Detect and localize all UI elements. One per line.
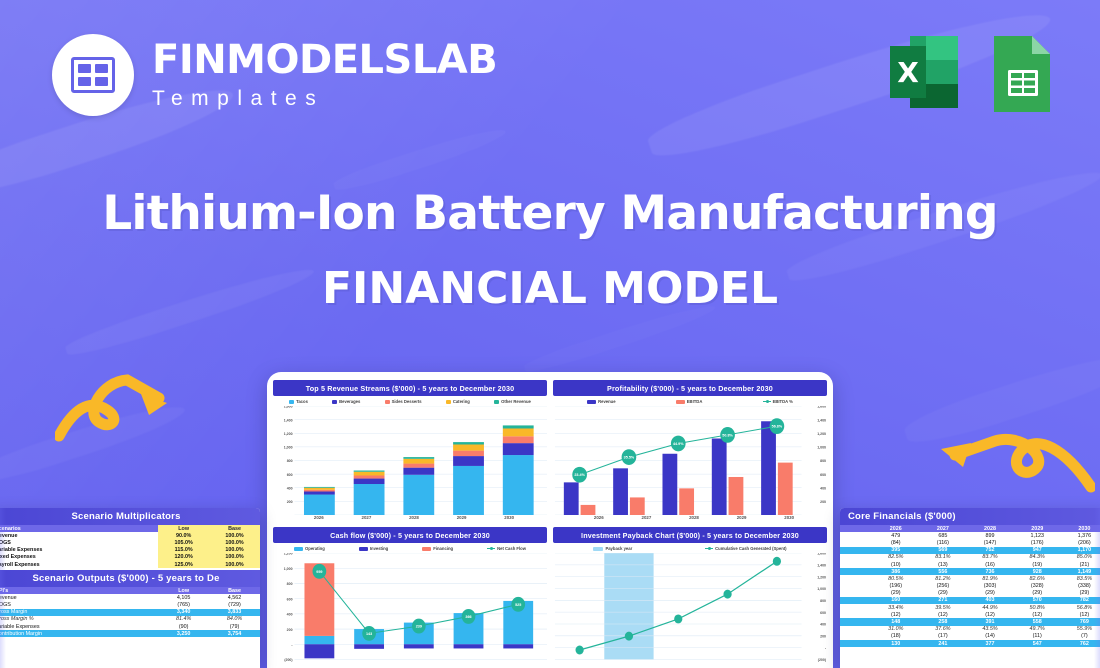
table-row: (84)(116)(147)(176)(206) [840,539,1100,546]
table-cell: 569 [919,547,966,554]
table-cell: (13) [919,561,966,568]
table-cell: 271 [919,597,966,604]
table-cell: 83.5% [1061,575,1100,582]
brand-logo[interactable]: FINMODELSLAB Templates [52,34,497,116]
table-cell: (29) [872,590,919,597]
table-cell: 81.2% [919,575,966,582]
table-cell: 782 [1061,597,1100,604]
legend-item: EBITDA [676,399,703,404]
table-row: 33.4%39.5%44.9%50.8%56.8% [840,604,1100,611]
table-cell: 1,376 [1061,532,1100,539]
svg-text:600: 600 [820,473,826,477]
chart-legend: Tacos Beverages Sides Desserts Catering … [273,396,547,406]
legend-item: Other Revenue [494,399,531,404]
table-cell: 85.0% [1061,554,1100,561]
legend-item: Payback year [593,546,632,551]
table-row: Variable Expenses115.0%100.0% [0,547,260,554]
table-row: 3865567369281,149 [840,568,1100,575]
table-cell: 1,149 [1061,568,1100,575]
cell-base: (79) [209,623,260,630]
table-cell: (303) [966,583,1013,590]
table-row: Variable Expenses(90)(79) [0,623,260,630]
row-label: COGS [0,602,158,609]
cell-low: (765) [158,602,209,609]
table-row: COGS105.0%100.0% [0,539,260,546]
table-cell: (19) [1014,561,1061,568]
row-label: Revenue [0,532,158,539]
table-row: Gross Margin %81.4%84.0% [0,616,260,623]
table-cell: 258 [919,618,966,625]
chart-x-axis: 20262027 20282029 2030 [553,515,827,521]
legend-item: Cumulative Cash Generated (Spent) [705,546,786,551]
legend-item: Operating [294,546,325,551]
table-cell: 33.4% [872,604,919,611]
table-row: 4796858991,1231,376 [840,532,1100,539]
table-row: (12)(12)(12)(12)(12) [840,611,1100,618]
table-cell: 1,123 [1014,532,1061,539]
table-cell: (12) [919,611,966,618]
scenario-multiplicators-table: Scenarios Low Base Revenue90.0%100.0%COG… [0,525,260,568]
table-cell: (17) [919,633,966,640]
table-cell: 570 [1014,597,1061,604]
table-row: Payroll Expenses125.0%100.0% [0,561,260,568]
table-row: (29)(29)(29)(29)(29) [840,590,1100,597]
row-label: Gross Margin [0,609,158,616]
table-cell: 403 [966,597,1013,604]
page-subtitle: FINANCIAL MODEL [0,263,1100,314]
legend-item: Revenue [587,399,615,404]
cell-low: 115.0% [158,547,209,554]
row-label: Variable Expenses [0,547,158,554]
table-header-row: KPI's Low Base [0,587,260,594]
chart-legend: Operating Investing Financing Net Cash F… [273,543,547,553]
legend-item: Tacos [289,399,308,404]
chart-title: Cash flow ($'000) - 5 years to December … [273,527,547,543]
column-header: 2030 [1061,525,1100,532]
core-financials-table: 2026 2027 2028 2029 2030 4796858991,1231… [840,525,1100,647]
row-label: Payroll Expenses [0,561,158,568]
cell-base: 4,562 [209,594,260,601]
brand-name: FINMODELSLAB [152,40,497,80]
row-label: Variable Expenses [0,623,158,630]
column-header: 2028 [966,525,1013,532]
table-row: Revenue4,1054,562 [0,594,260,601]
svg-text:1,000: 1,000 [284,567,293,571]
svg-text:200: 200 [820,634,826,638]
table-cell: (18) [872,633,919,640]
table-cell: (12) [966,611,1013,618]
svg-text:56.8%: 56.8% [772,425,783,429]
cell-low: 90.0% [158,532,209,539]
table-row: (196)(256)(303)(328)(338) [840,583,1100,590]
table-cell: (147) [966,539,1013,546]
svg-text:600: 600 [820,611,826,615]
table-row: 31.0%37.6%43.5%49.7%55.9% [840,626,1100,633]
table-row: 130241377547762 [840,640,1100,647]
svg-text:-: - [825,646,827,650]
cell-base: 100.0% [209,539,260,546]
table-row: 3955697529471,170 [840,547,1100,554]
table-cell: 395 [872,547,919,554]
table-cell: 377 [966,640,1013,647]
table-cell: 31.0% [872,626,919,633]
column-header: 2029 [1014,525,1061,532]
table-cell: 391 [966,618,1013,625]
table-cell: (21) [1061,561,1100,568]
cell-base: 100.0% [209,561,260,568]
svg-text:800: 800 [820,459,826,463]
legend-item: EBITDA % [763,399,793,404]
cell-low: 3,340 [158,609,209,616]
cell-low: 81.4% [158,616,209,623]
google-sheets-icon [982,32,1058,116]
table-row: Gross Margin3,3403,833 [0,609,260,616]
table-row: Contribution Margin3,2503,754 [0,630,260,637]
svg-text:1,200: 1,200 [284,553,293,556]
table-cell: 762 [1061,640,1100,647]
chart-x-axis: 20262027 20282029 2030 [273,515,547,521]
cell-base: 100.0% [209,547,260,554]
row-label: Revenue [0,594,158,601]
table-cell: (14) [966,633,1013,640]
cell-base: (729) [209,602,260,609]
column-header: 2027 [919,525,966,532]
svg-text:1,600: 1,600 [284,406,293,409]
table-row: 160271403570782 [840,597,1100,604]
svg-text:-: - [291,643,293,647]
table-cell: 1,170 [1061,547,1100,554]
svg-text:1,000: 1,000 [817,445,826,449]
table-cell: (328) [1014,583,1061,590]
scenario-multiplicators-title: Scenario Multiplicators [0,508,260,525]
cell-low: 125.0% [158,561,209,568]
table-row: 148258391558769 [840,618,1100,625]
row-label: Contribution Margin [0,630,158,637]
table-row: (18)(17)(14)(11)(7) [840,633,1100,640]
page-title: Lithium-Ion Battery Manufacturing [0,186,1100,241]
table-cell: (29) [919,590,966,597]
legend-item: Financing [422,546,453,551]
table-cell: 556 [919,568,966,575]
legend-item: Beverages [332,399,360,404]
chart-panel-cash-flow[interactable]: Cash flow ($'000) - 5 years to December … [273,527,547,668]
table-cell: 56.8% [1061,604,1100,611]
table-row: (10)(13)(16)(19)(21) [840,561,1100,568]
table-cell: (10) [872,561,919,568]
legend-item: Investing [359,546,388,551]
table-cell: (176) [1014,539,1061,546]
table-header-row: Scenarios Low Base [0,525,260,532]
chart-title: Investment Payback Chart ($'000) - 5 yea… [553,527,827,543]
table-row: Fixed Expenses120.0%100.0% [0,554,260,561]
header: FINMODELSLAB Templates X [0,0,1100,150]
table-cell: 558 [1014,618,1061,625]
cell-base: 100.0% [209,532,260,539]
cell-low: 4,105 [158,594,209,601]
table-cell: 83.1% [919,554,966,561]
app-icons: X [886,32,1058,116]
table-cell: (12) [1014,611,1061,618]
svg-text:800: 800 [287,582,293,586]
table-cell: 80.5% [872,575,919,582]
svg-text:600: 600 [287,597,293,601]
table-cell: (84) [872,539,919,546]
table-cell: 44.9% [966,604,1013,611]
table-cell: (12) [1061,611,1100,618]
curved-arrow-left-icon [925,425,1095,510]
table-cell: 84.3% [1014,554,1061,561]
table-cell: 148 [872,618,919,625]
chart-plot-area: 1,6001,4001,2001,000800600400200-(200) [553,553,827,668]
column-header: Base [209,525,260,532]
svg-text:50.8%: 50.8% [722,433,733,437]
cell-base: 3,833 [209,609,260,616]
table-cell: (256) [919,583,966,590]
table-cell: (116) [919,539,966,546]
table-cell: 37.6% [919,626,966,633]
curved-arrow-right-icon [55,358,180,448]
row-label: Fixed Expenses [0,554,158,561]
cell-low: 120.0% [158,554,209,561]
svg-text:-: - [291,514,293,515]
table-cell: (206) [1061,539,1100,546]
scenario-outputs-table: KPI's Low Base Revenue4,1054,562 COGS(76… [0,587,260,637]
table-cell: 241 [919,640,966,647]
svg-text:143: 143 [366,631,373,636]
svg-text:400: 400 [820,623,826,627]
brand-tagline: Templates [152,87,497,111]
table-cell: (7) [1061,633,1100,640]
svg-text:1,600: 1,600 [817,406,826,409]
table-cell: 160 [872,597,919,604]
table-cell: 49.7% [1014,626,1061,633]
legend-item: Net Cash Flow [487,546,526,551]
legend-item: Catering [446,399,470,404]
table-cell: 43.5% [966,626,1013,633]
svg-text:1,600: 1,600 [817,553,826,556]
microsoft-excel-icon: X [886,32,962,116]
svg-text:800: 800 [820,599,826,603]
svg-text:1,200: 1,200 [284,432,293,436]
table-cell: 386 [872,568,919,575]
column-header: Low [158,587,209,594]
column-header: 2026 [872,525,919,532]
svg-text:400: 400 [287,612,293,616]
chart-panel-revenue-streams[interactable]: Top 5 Revenue Streams ($'000) - 5 years … [273,380,547,521]
row-label: Gross Margin % [0,616,158,623]
table-header-row: 2026 2027 2028 2029 2030 [840,525,1100,532]
svg-text:1,400: 1,400 [817,418,826,422]
table-cell: (29) [1061,590,1100,597]
table-cell: 55.9% [1061,626,1100,633]
svg-text:1,400: 1,400 [284,418,293,422]
table-cell: (29) [1014,590,1061,597]
svg-text:239: 239 [416,623,423,628]
row-label: COGS [0,539,158,546]
svg-text:600: 600 [287,473,293,477]
core-financials-panel[interactable]: Core Financials ($'000) 2026 2027 2028 2… [840,508,1100,668]
legend-item: Sides Desserts [385,399,422,404]
core-financials-title: Core Financials ($'000) [840,508,1100,525]
column-header: Scenarios [0,525,158,532]
cell-low: 105.0% [158,539,209,546]
svg-text:X: X [897,56,919,89]
cell-low: 3,250 [158,630,209,637]
svg-text:1,200: 1,200 [817,575,826,579]
cell-base: 84.0% [209,616,260,623]
svg-text:400: 400 [820,486,826,490]
svg-text:1,200: 1,200 [817,432,826,436]
svg-text:23.4%: 23.4% [574,473,585,477]
title-block: Lithium-Ion Battery Manufacturing FINANC… [0,186,1100,314]
table-cell: 39.5% [919,604,966,611]
svg-text:400: 400 [287,486,293,490]
table-row: 82.5%83.1%83.7%84.3%85.0% [840,554,1100,561]
svg-text:1,000: 1,000 [817,587,826,591]
chart-legend: Revenue EBITDA EBITDA % [553,396,827,406]
column-header: Base [209,587,260,594]
table-cell: 928 [1014,568,1061,575]
svg-text:(200): (200) [284,658,293,662]
svg-text:(200): (200) [818,658,827,662]
table-cell: 947 [1014,547,1061,554]
column-header: Low [158,525,209,532]
cell-base: 100.0% [209,554,260,561]
table-cell: 769 [1061,618,1100,625]
chart-plot-area: 1,2001,000800600400200-(200)959143239366… [273,553,547,668]
chart-plot-area: 1,6001,4001,2001,000800600400200- [273,406,547,515]
table-cell: (338) [1061,583,1100,590]
svg-text:366: 366 [465,614,472,619]
grid-logo-icon [52,34,134,116]
table-cell: (196) [872,583,919,590]
table-cell: 50.8% [1014,604,1061,611]
svg-text:959: 959 [316,569,323,574]
table-cell: 82.6% [1014,575,1061,582]
table-cell: (29) [966,590,1013,597]
svg-text:800: 800 [287,459,293,463]
svg-text:1,000: 1,000 [284,445,293,449]
cell-low: (90) [158,623,209,630]
chart-plot-area: 1,6001,4001,2001,000800600400200-23.4%35… [553,406,827,515]
scenario-outputs-title: Scenario Outputs ($'000) - 5 years to De [0,570,260,587]
svg-text:525: 525 [515,602,522,607]
svg-text:1,400: 1,400 [817,563,826,567]
table-cell: 736 [966,568,1013,575]
chart-legend: Payback year Cumulative Cash Generated (… [553,543,827,553]
table-cell: 130 [872,640,919,647]
chart-panel-investment-payback[interactable]: Investment Payback Chart ($'000) - 5 yea… [553,527,827,668]
svg-text:200: 200 [287,628,293,632]
table-cell: 83.7% [966,554,1013,561]
cell-base: 3,754 [209,630,260,637]
svg-text:35.5%: 35.5% [624,455,635,459]
dashboard-preview[interactable]: Top 5 Revenue Streams ($'000) - 5 years … [267,372,833,668]
table-row: 80.5%81.2%81.9%82.6%83.5% [840,575,1100,582]
table-cell: 685 [919,532,966,539]
table-cell: (16) [966,561,1013,568]
column-header: KPI's [0,587,158,594]
svg-text:44.9%: 44.9% [673,442,684,446]
svg-text:-: - [825,514,827,515]
table-cell: 81.9% [966,575,1013,582]
table-cell: 479 [872,532,919,539]
svg-text:200: 200 [287,500,293,504]
table-cell: (12) [872,611,919,618]
table-cell: 82.5% [872,554,919,561]
chart-title: Top 5 Revenue Streams ($'000) - 5 years … [273,380,547,396]
table-cell: 899 [966,532,1013,539]
table-cell: 752 [966,547,1013,554]
chart-title: Profitability ($'000) - 5 years to Decem… [553,380,827,396]
svg-text:200: 200 [820,500,826,504]
table-row: COGS(765)(729) [0,602,260,609]
scenario-panel[interactable]: Scenario Multiplicators Scenarios Low Ba… [0,508,260,668]
chart-panel-profitability[interactable]: Profitability ($'000) - 5 years to Decem… [553,380,827,521]
table-cell: (11) [1014,633,1061,640]
table-row: Revenue90.0%100.0% [0,532,260,539]
table-cell: 547 [1014,640,1061,647]
